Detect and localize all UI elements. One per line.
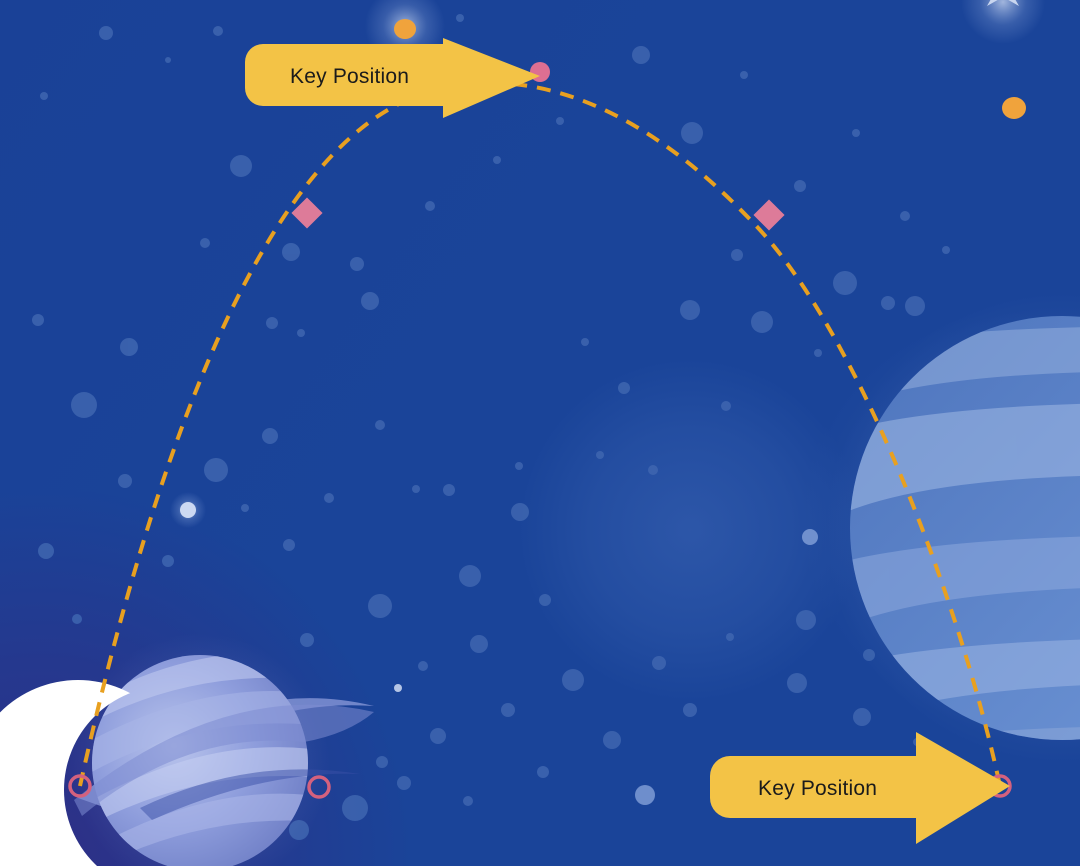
callout-label-bottom: Key Position (758, 777, 877, 801)
marker-loose-ring[interactable] (309, 777, 329, 797)
callout-key-position-top[interactable]: Key Position (245, 38, 540, 118)
space-trajectory-scene: Key Position Key Position (0, 0, 1080, 866)
trajectory-path (80, 83, 1000, 786)
callout-key-position-bottom[interactable]: Key Position (710, 732, 1010, 844)
callout-label-top: Key Position (290, 65, 409, 89)
